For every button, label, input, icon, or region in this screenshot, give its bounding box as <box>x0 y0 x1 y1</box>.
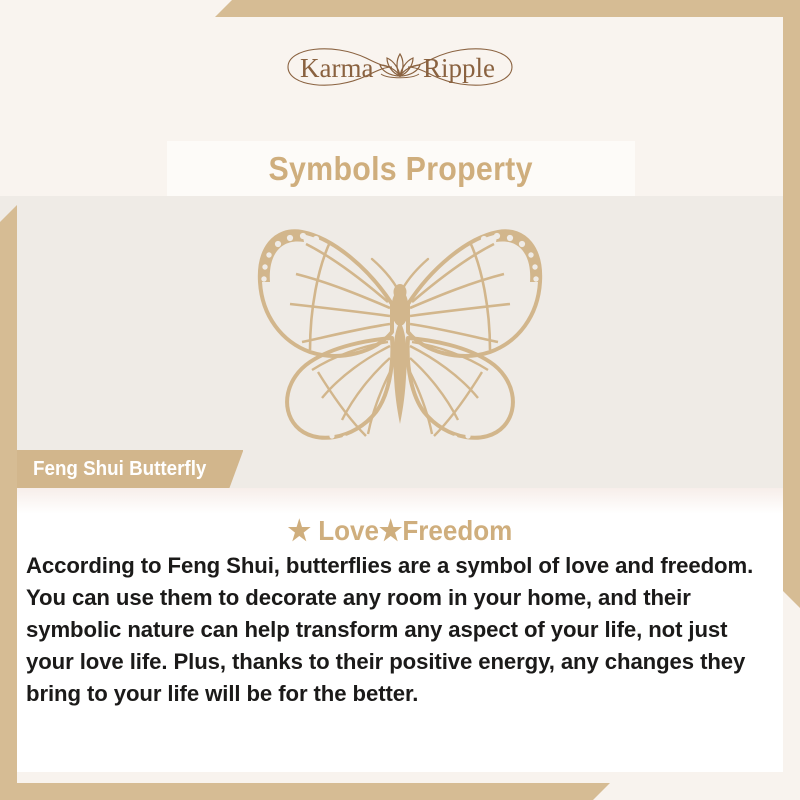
feature-label-banner: Feng Shui Butterfly <box>17 450 243 488</box>
frame-accent-left <box>0 205 17 800</box>
panel-top-fade <box>17 488 783 514</box>
illustration-panel <box>0 196 800 488</box>
brand-word-right: Ripple <box>423 53 495 83</box>
butterfly-icon <box>230 212 570 442</box>
section-title-band: Symbols Property <box>167 141 635 197</box>
description-panel: ★ Love★Freedom According to Feng Shui, b… <box>17 488 783 772</box>
frame-accent-right <box>783 0 800 608</box>
brand-logo: Karma Ripple <box>0 36 800 98</box>
page-title: Symbols Property <box>269 150 533 188</box>
lotus-icon <box>380 54 420 78</box>
brand-word-left: Karma <box>300 53 373 83</box>
butterfly-image <box>0 202 800 452</box>
promo-card: Karma Ripple Symbols Property <box>0 0 800 800</box>
description-paragraph: According to Feng Shui, butterflies are … <box>26 550 771 710</box>
feature-label-text: Feng Shui Butterfly <box>33 458 206 481</box>
frame-accent-bottom <box>0 783 610 800</box>
love-freedom-kicker: ★ Love★Freedom <box>44 514 756 547</box>
frame-accent-top <box>215 0 800 17</box>
karma-ripple-logo-icon: Karma Ripple <box>280 36 520 98</box>
